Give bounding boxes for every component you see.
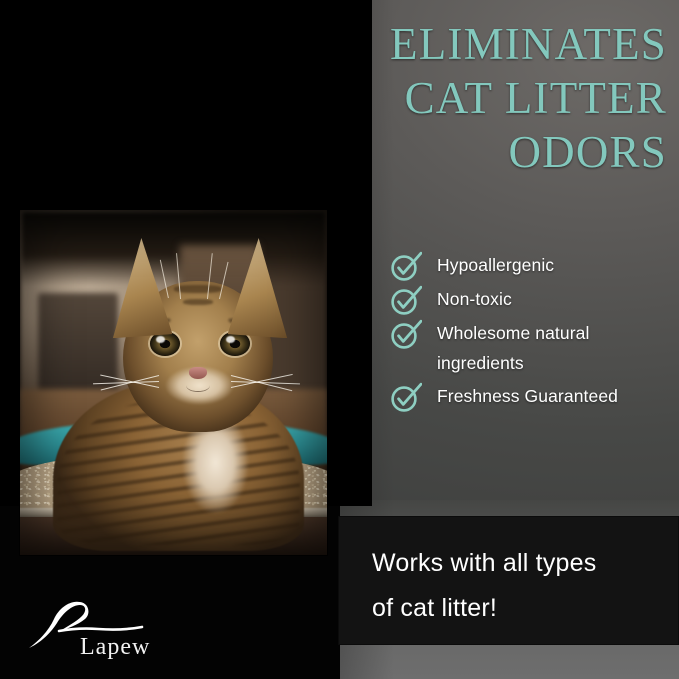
list-item: Freshness Guaranteed bbox=[390, 381, 675, 412]
check-circle-icon bbox=[390, 285, 422, 316]
product-ad-image: ELIMINATES CAT LITTER ODORS bbox=[0, 0, 679, 679]
kitten-eye-right bbox=[220, 332, 250, 356]
list-item: Wholesome natural ingredients bbox=[390, 318, 675, 378]
list-item: Hypoallergenic bbox=[390, 250, 675, 281]
list-item-label: Hypoallergenic bbox=[437, 250, 554, 280]
page-title: ELIMINATES CAT LITTER ODORS bbox=[247, 17, 667, 179]
kitten-ear-inner bbox=[274, 260, 287, 282]
tagline-line-2: of cat litter! bbox=[372, 594, 497, 623]
list-item-label: Non-toxic bbox=[437, 284, 512, 314]
check-circle-icon bbox=[390, 251, 422, 282]
kitten-ear-inner bbox=[115, 260, 128, 282]
tagline-line-1: Works with all types bbox=[372, 549, 596, 578]
kitten bbox=[100, 241, 296, 545]
kitten-ear-right bbox=[228, 238, 293, 338]
eye-glint bbox=[156, 336, 165, 343]
brand-name: Lapew bbox=[80, 634, 150, 661]
kitten-eye-left bbox=[150, 332, 180, 356]
headline-line-2: CAT LITTER bbox=[247, 71, 667, 125]
eye-glint bbox=[226, 336, 235, 343]
check-circle-icon bbox=[390, 382, 422, 413]
headline-line-3: ODORS bbox=[247, 125, 667, 179]
cat-photo bbox=[20, 210, 327, 555]
check-circle-icon bbox=[390, 319, 422, 350]
photo-scene bbox=[20, 210, 327, 555]
list-item: Non-toxic bbox=[390, 284, 675, 315]
list-item-label: Wholesome natural ingredients bbox=[437, 318, 675, 378]
brand-logo: Lapew bbox=[26, 598, 186, 666]
benefits-list: Hypoallergenic Non-toxic Wholesome natur… bbox=[390, 250, 675, 415]
list-item-label: Freshness Guaranteed bbox=[437, 381, 618, 411]
headline-line-1: ELIMINATES bbox=[247, 17, 667, 71]
tagline-box: Works with all types of cat litter! bbox=[338, 516, 679, 645]
